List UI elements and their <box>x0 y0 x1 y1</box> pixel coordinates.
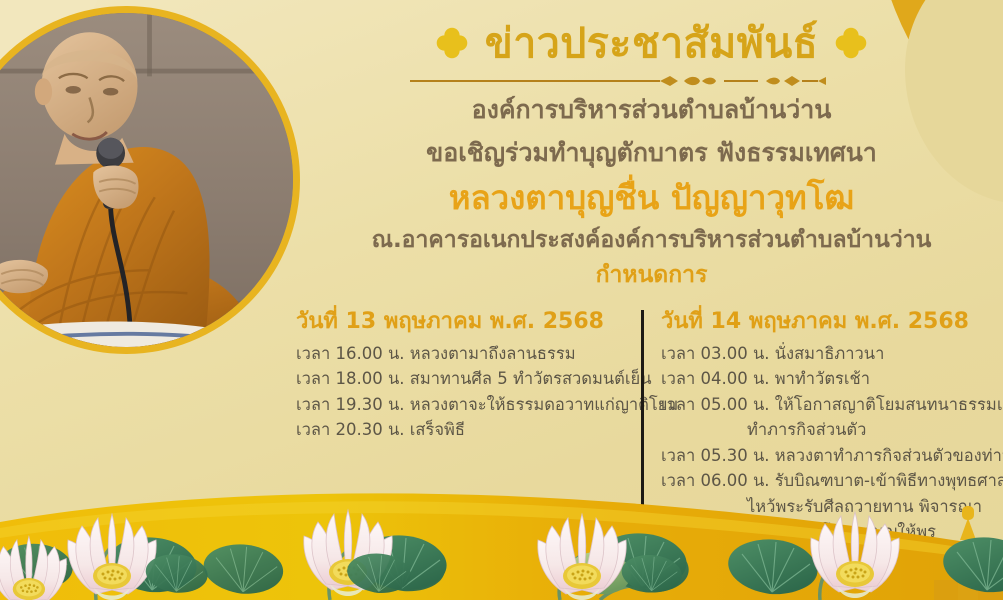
venue-line: ณ.อาคารอเนกประสงค์องค์การบริหารส่วนตำบลบ… <box>300 226 1003 256</box>
schedule-item-continuation: ทำภารกิจส่วนตัว <box>661 417 994 443</box>
day-one-heading: วันที่ 13 พฤษภาคม พ.ศ. 2568 <box>296 308 629 336</box>
agenda-label: กำหนดการ <box>300 261 1003 291</box>
announcement-poster: ข่าวประชาสัมพันธ์ องค์การบริหารส่วนตำบลบ… <box>0 0 1003 600</box>
schedule-column-day-one: วันที่ 13 พฤษภาคม พ.ศ. 2568 เวลา 16.00 น… <box>296 308 641 443</box>
schedule-item: เวลา 04.00 น. พาทำวัตรเช้า <box>661 366 994 392</box>
schedule-item: เวลา 05.30 น. หลวงตาทำภารกิจส่วนตัวของท่… <box>661 443 994 469</box>
invitation-line: ขอเชิญร่วมทำบุญตักบาตร ฟังธรรมเทศนา <box>300 136 1003 169</box>
header-block: ข่าวประชาสัมพันธ์ องค์การบริหารส่วนตำบลบ… <box>300 14 1003 291</box>
monk-photo-frame <box>0 6 300 354</box>
schedule-item: เวลา 19.30 น. หลวงตาจะให้ธรรมดอวาทแก่ญาต… <box>296 392 629 418</box>
schedule-item: เวลา 05.00 น. ให้โอกาสญาติโยมสนทนาธรรมแล… <box>661 392 994 418</box>
monk-name: หลวงตาบุญชื่น ปัญญาวุทโฒ <box>300 178 1003 218</box>
organization-name: องค์การบริหารส่วนตำบลบ้านว่าน <box>300 93 1003 126</box>
schedule-item: เวลา 18.00 น. สมาทานศีล 5 ทำวัตรสวดมนต์เ… <box>296 366 629 392</box>
title-ornamental-rule <box>402 73 902 91</box>
day-two-heading: วันที่ 14 พฤษภาคม พ.ศ. 2568 <box>661 308 994 336</box>
title-row: ข่าวประชาสัมพันธ์ <box>300 14 1003 72</box>
page-title: ข่าวประชาสัมพันธ์ <box>485 23 819 64</box>
schedule-item: เวลา 16.00 น. หลวงตามาถึงลานธรรม <box>296 341 629 367</box>
lotus-decoration-band <box>0 482 1003 600</box>
schedule-item: เวลา 03.00 น. นั่งสมาธิภาวนา <box>661 341 994 367</box>
quatrefoil-icon-right <box>834 26 868 60</box>
quatrefoil-icon-left <box>435 26 469 60</box>
schedule-item: เวลา 20.30 น. เสร็จพิธี <box>296 417 629 443</box>
monk-photo <box>0 13 293 347</box>
